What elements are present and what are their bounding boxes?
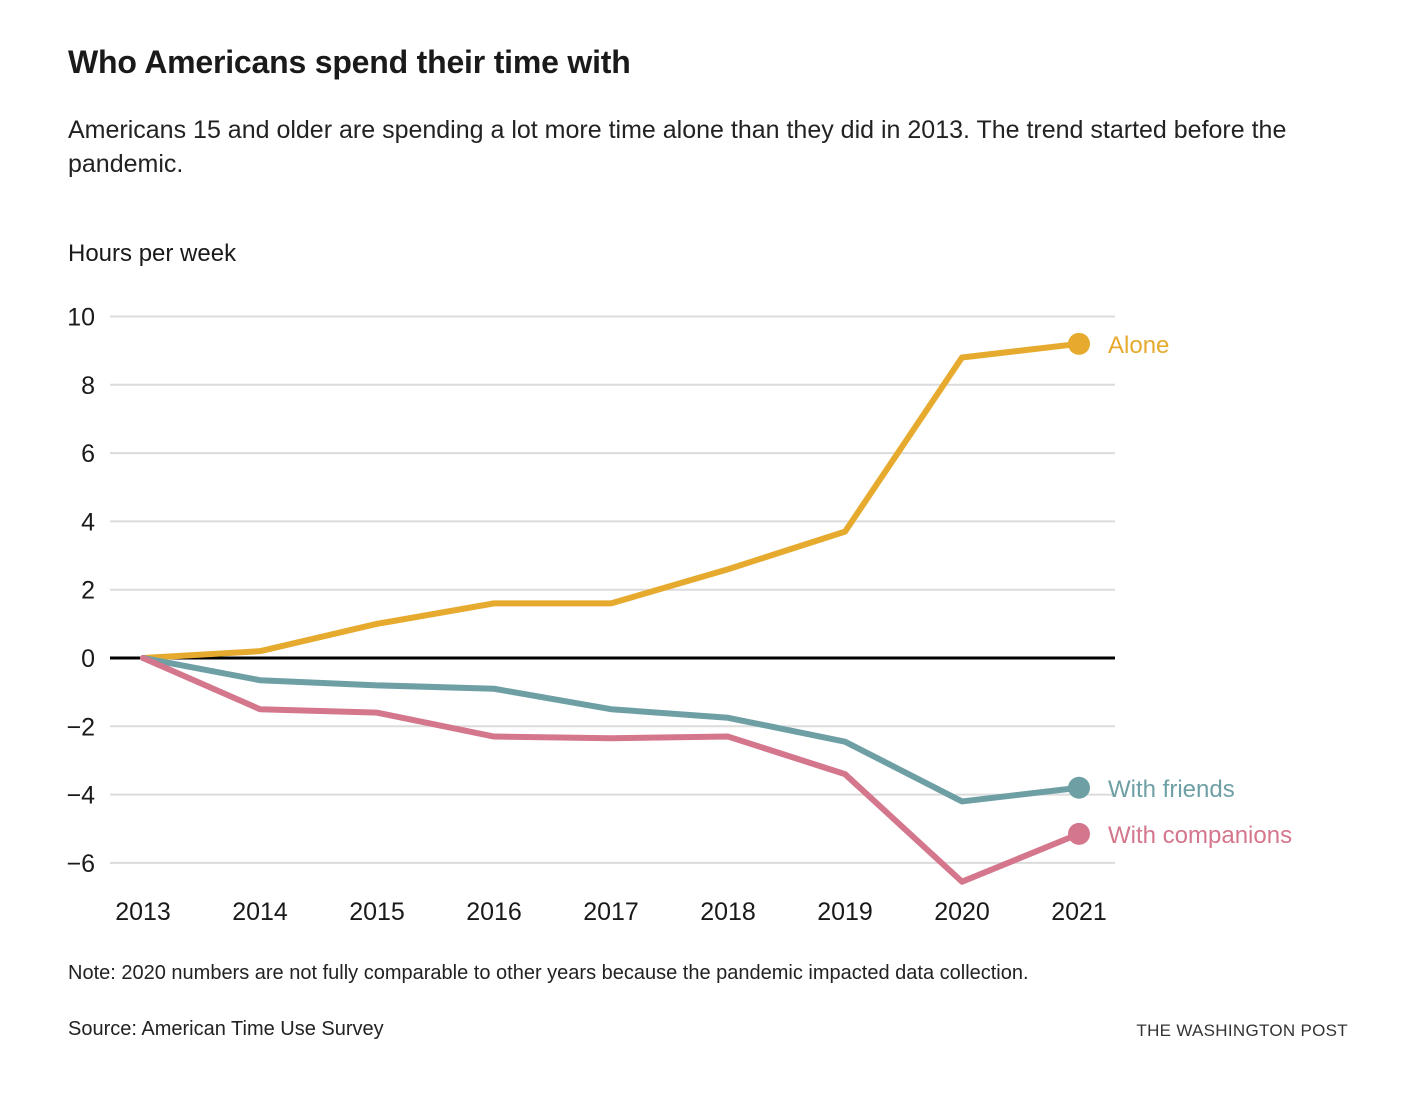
y-axis-tick-label: 6	[81, 440, 95, 468]
chart-note: Note: 2020 numbers are not fully compara…	[68, 962, 1368, 985]
x-axis-tick-label: 2016	[466, 898, 522, 926]
y-axis-tick-label: 4	[81, 508, 95, 536]
series-endpoint-with-companions	[1068, 823, 1090, 845]
x-axis-tick-label: 2019	[817, 898, 873, 926]
x-axis-tick-label: 2015	[349, 898, 405, 926]
series-line-alone	[143, 344, 1079, 658]
x-axis-tick-label: 2014	[232, 898, 288, 926]
x-axis-tick-label: 2021	[1051, 898, 1107, 926]
series-label-with-companions: With companions	[1108, 822, 1292, 849]
y-axis-tick-label: 10	[67, 304, 95, 332]
series-line-with-friends	[143, 658, 1079, 801]
publisher-credit: THE WASHINGTON POST	[1136, 1021, 1348, 1041]
y-axis-tick-label: 2	[81, 577, 95, 605]
x-axis-ticks: 201320142015201620172018201920202021	[115, 898, 1107, 926]
x-axis-tick-label: 2013	[115, 898, 171, 926]
series-line-with-companions	[143, 658, 1079, 882]
y-axis-tick-label: −6	[66, 850, 95, 878]
series-endpoint-with-friends	[1068, 777, 1090, 799]
series-label-with-friends: With friends	[1108, 776, 1235, 803]
y-axis-tick-label: −2	[66, 713, 95, 741]
gridlines	[110, 317, 1115, 863]
x-axis-tick-label: 2018	[700, 898, 756, 926]
chart-source: Source: American Time Use Survey	[68, 1018, 384, 1041]
series-endpoint-alone	[1068, 333, 1090, 355]
y-axis-ticks: 1086420−2−4−6	[66, 304, 95, 878]
x-axis-tick-label: 2020	[934, 898, 990, 926]
line-chart: 1086420−2−4−6 20132014201520162017201820…	[0, 0, 1410, 1096]
data-series	[143, 333, 1090, 882]
chart-page: Who Americans spend their time with Amer…	[0, 0, 1410, 1096]
y-axis-tick-label: 8	[81, 372, 95, 400]
x-axis-tick-label: 2017	[583, 898, 639, 926]
series-label-alone: Alone	[1108, 332, 1169, 359]
series-labels: AloneWith friendsWith companions	[1108, 332, 1292, 849]
y-axis-tick-label: 0	[81, 645, 95, 673]
y-axis-tick-label: −4	[66, 782, 95, 810]
